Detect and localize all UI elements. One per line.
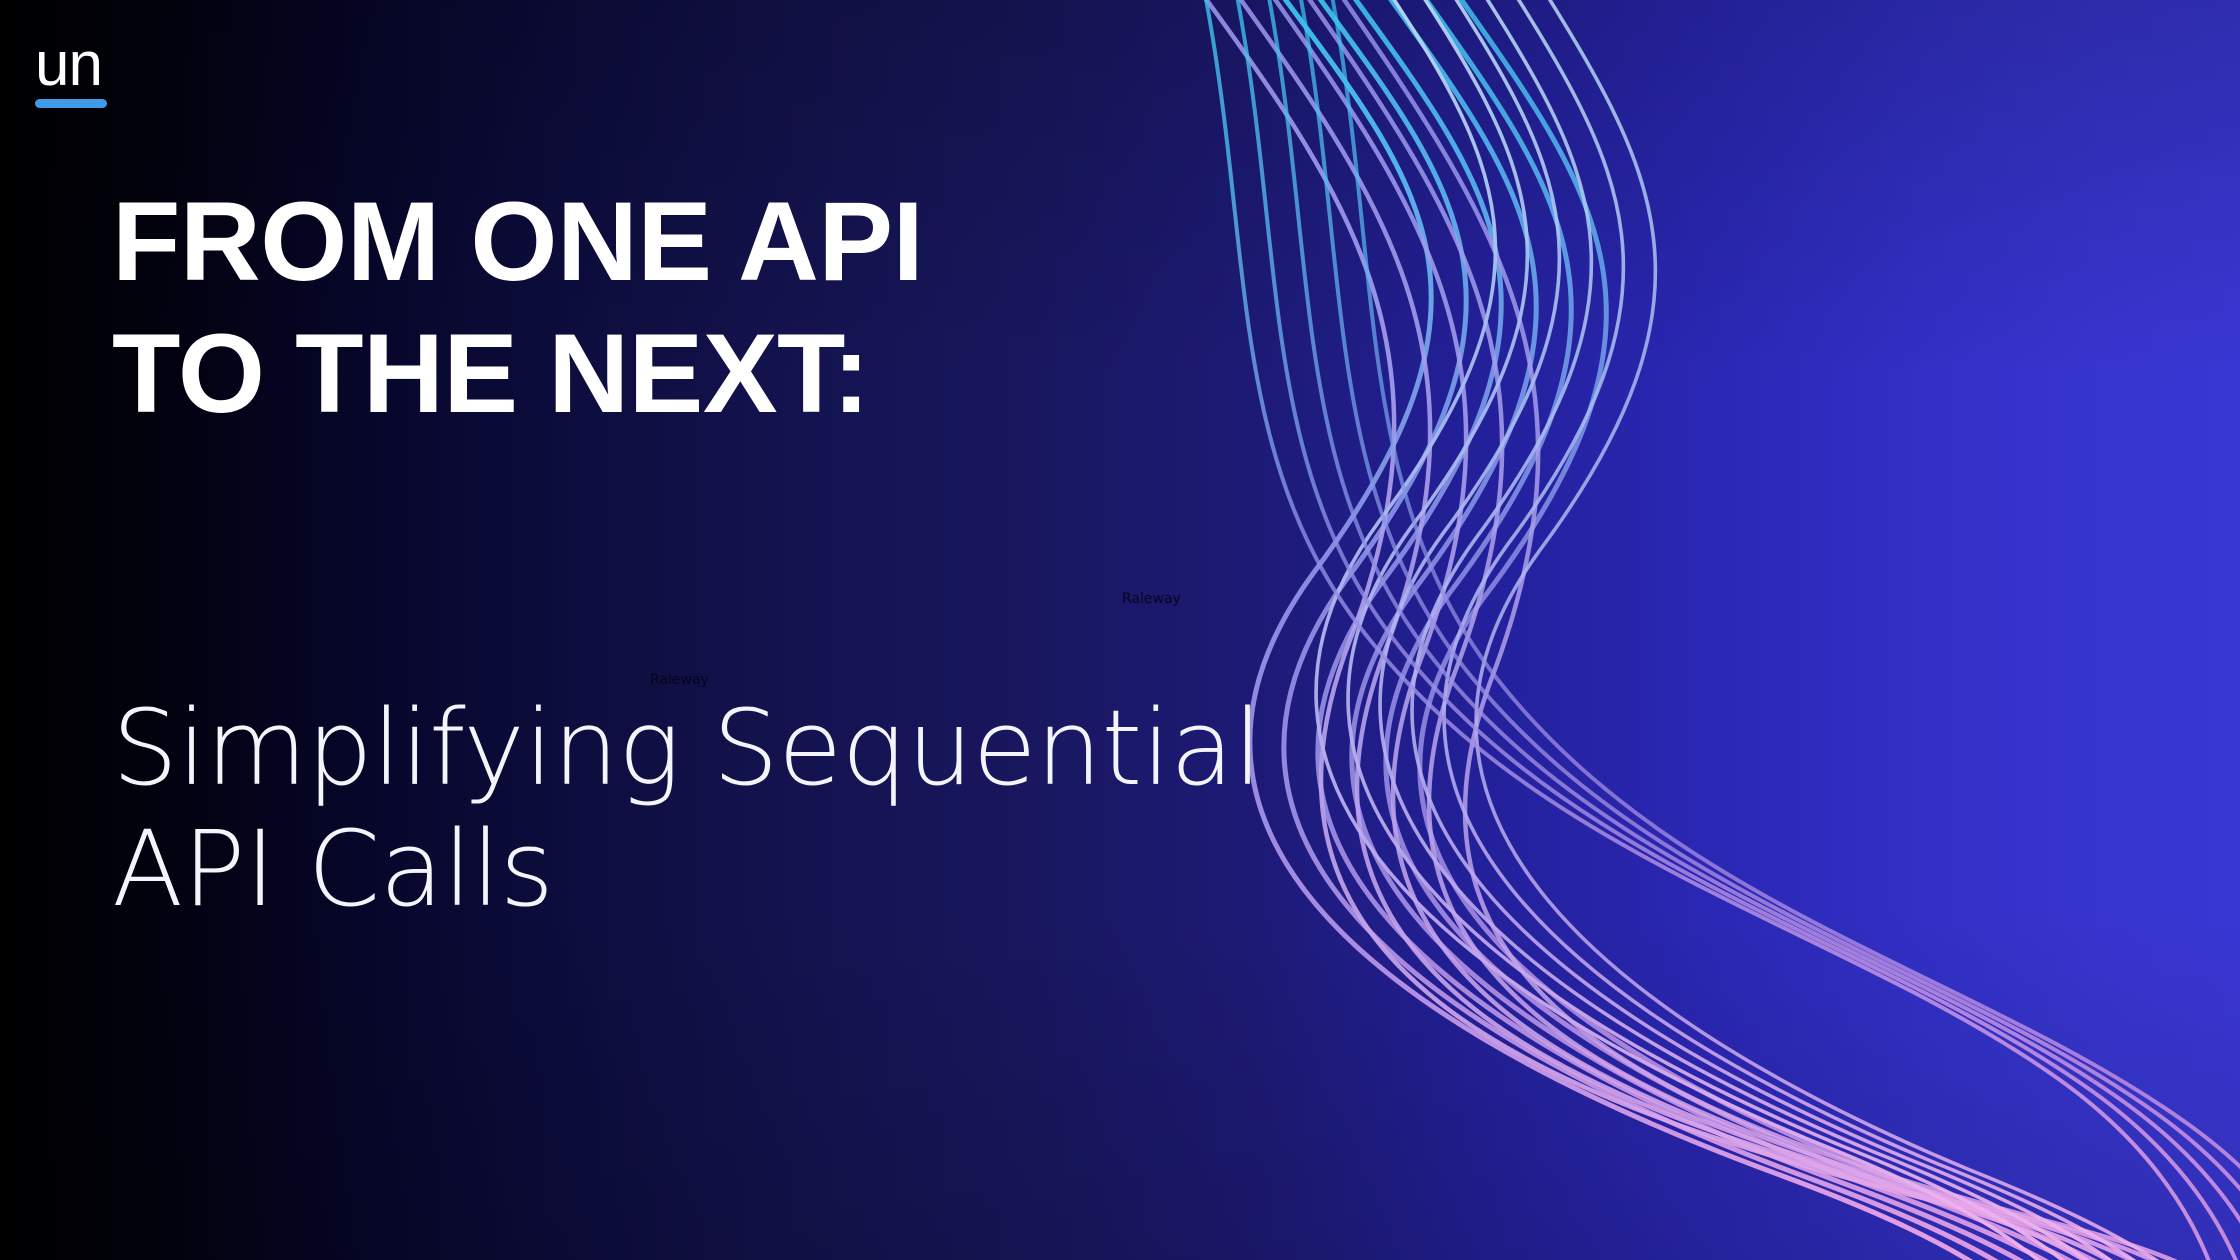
font-label-lower: Raleway [650,672,709,688]
page-subtitle: Simplifying Sequential API Calls [112,688,1232,929]
brand-logo-text: un [35,36,115,93]
brand-logo[interactable]: un [35,36,115,108]
page-subtitle-line-2: API Calls [112,809,1232,930]
brand-logo-underline [35,99,107,108]
page-title: FROM ONE API TO THE NEXT: [112,176,1292,440]
page-subtitle-line-1: Simplifying Sequential [112,688,1232,809]
page-title-line-1: FROM ONE API [112,176,1292,308]
font-label-upper: Raleway [1122,591,1181,607]
page-title-line-2: TO THE NEXT: [112,308,1292,440]
social-banner: un FROM ONE API TO THE NEXT: Simplifying… [0,0,2240,1260]
